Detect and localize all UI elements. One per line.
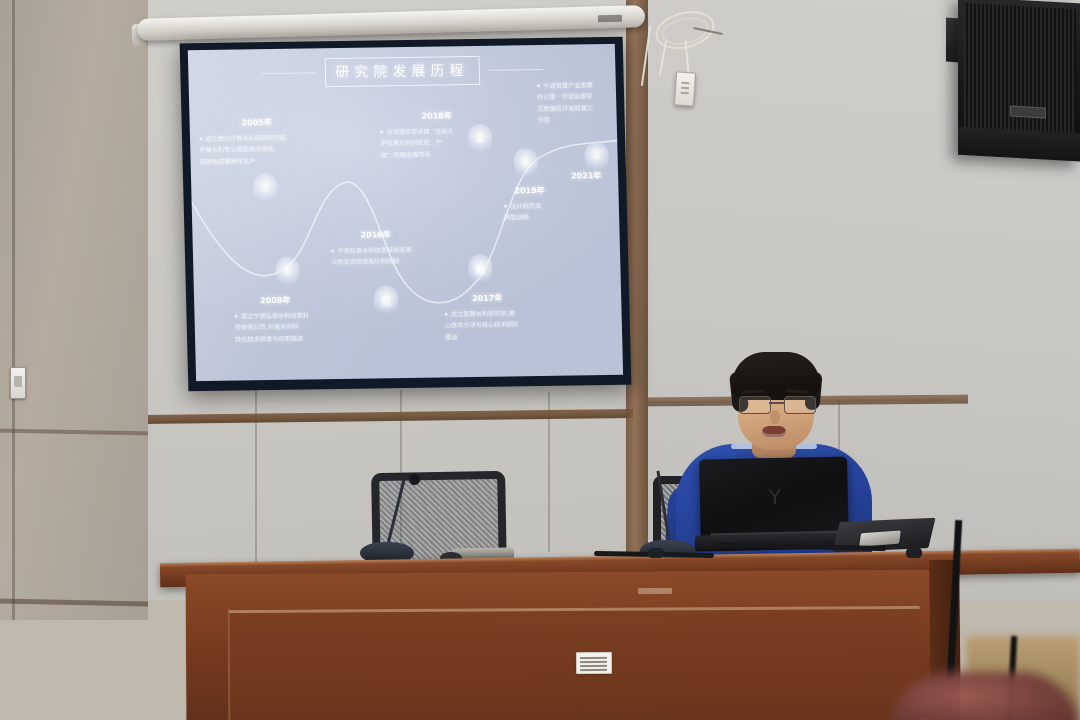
slide-surface: 研究院发展历程 ⚔ ⚭ ▤ ▣ ▲ ⚲ ⚭ 2005年 成立面对计算水利规划研究…: [188, 44, 623, 381]
nose: [770, 410, 780, 424]
title-rule-right: [488, 69, 542, 71]
laptop-lid: Y: [699, 456, 849, 537]
light-switch[interactable]: [10, 367, 26, 399]
milestone-year: 2017年: [472, 293, 503, 304]
projector-screen: 研究院发展历程 ⚔ ⚭ ▤ ▣ ▲ ⚲ ⚭ 2005年 成立面对计算水利规划研究…: [180, 37, 632, 391]
milestone-text: 成立智慧水利研究院,推 心技术方法与核心技术团队 建设: [444, 308, 519, 343]
milestone-text: 设计院完成 转型战略: [504, 201, 542, 224]
laptop-logo: Y: [766, 486, 784, 508]
milestone-text: 与河海大学共建 "河海大 学智慧水利研究院 · 宁 波", 拓展全国市场: [380, 126, 454, 161]
milestone-year: 2019年: [514, 185, 545, 196]
inventory-sticker: [576, 652, 612, 674]
server-icon: ▤: [374, 285, 399, 315]
milestone-text: 宁波弘泰水利信息科技有限 公司正式完成股份制改制: [331, 245, 412, 269]
slide-title-box: 研究院发展历程: [324, 56, 480, 87]
laptop-icon: ▣: [468, 254, 493, 284]
trophy-icon: ⚔: [253, 173, 278, 203]
search-icon: ⚲: [513, 148, 538, 178]
slide-title-group: 研究院发展历程: [261, 55, 543, 88]
milestone-text: 宁波智慧产业发展 办公室 · 宁波弘泰智 芯数据区开发智慧工 作室: [537, 80, 594, 127]
roller-brand-logo: [598, 15, 622, 23]
cable-connector: [906, 548, 922, 558]
wall-speaker: [958, 0, 1080, 161]
lens: [739, 396, 771, 414]
pin-icon: ⚭: [584, 142, 609, 172]
power-strip[interactable]: [674, 71, 696, 106]
podium-inset-panel: [228, 606, 921, 720]
milestone-text: 成立宁波弘泰水利信息科 技有限公司,开展水利科 技化技术研发与应用推进: [234, 310, 309, 346]
milestone-year: 2005年: [242, 117, 273, 128]
microphone-capsule: [409, 474, 420, 485]
glasses-bridge: [769, 402, 784, 404]
wall-seam: [12, 0, 15, 620]
milestone-text: 成立面对计算水利规划研究组, 开展水利专业模型技术研发, 突破性成果转化生产: [199, 133, 289, 169]
title-rule-left: [261, 72, 315, 74]
milestone-year: 2021年: [571, 170, 602, 181]
conference-room-photo: 研究院发展历程 ⚔ ⚭ ▤ ▣ ▲ ⚲ ⚭ 2005年 成立面对计算水利规划研究…: [0, 0, 1080, 720]
page-title: 研究院发展历程: [335, 60, 468, 82]
lens: [784, 396, 816, 414]
milestone-year: 2016年: [360, 229, 391, 240]
podium-brand-mark: [638, 588, 672, 594]
left-wall-panel: [0, 0, 148, 620]
mouth: [762, 426, 786, 437]
milestone-year: 2018年: [421, 110, 452, 121]
milestone-year: 2008年: [260, 295, 291, 306]
laptop[interactable]: Y: [699, 456, 849, 549]
speaker-badge: [1010, 105, 1046, 118]
cable-connector: [648, 548, 664, 558]
location-pin-icon: ⚭: [275, 257, 300, 287]
factory-icon: ▲: [468, 124, 493, 154]
wall-wood-column: [626, 0, 648, 560]
